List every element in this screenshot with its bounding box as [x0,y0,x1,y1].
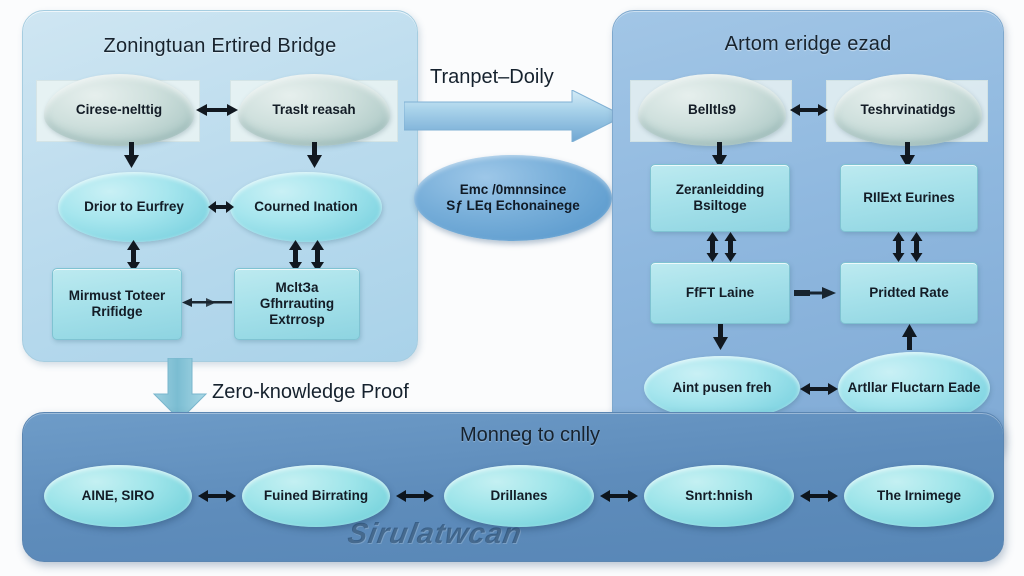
node-label-line1: Emc /0mnnsince [446,182,580,198]
arrow-left-rects [182,295,236,311]
diagram-canvas: Zoningtuan Ertired Bridge Cirese-nelttig… [0,0,1024,576]
arrow-down-left-b [306,142,324,168]
panel-left-title: Zoningtuan Ertired Bridge [23,35,417,58]
arrow-bidirectional-vertical-right-b2 [910,232,924,262]
node-label: Courned Ination [254,199,358,215]
node-left-rect-a[interactable]: Mirmust Toteer Rrifidge [52,268,182,340]
node-label: Cirese-nelttig [76,102,162,118]
node-label: AINE, SIRO [82,488,155,504]
arrow-bidirectional-vertical-right-a2 [724,232,738,262]
node-right-rect-b[interactable]: RIlExt Eurines [840,164,978,232]
node-label: Teshrvinatidgs [860,102,955,118]
node-label: Drillanes [490,488,547,504]
node-label: Traslt reasah [272,102,355,118]
arrow-transfer-left-to-right [404,90,624,142]
arrow-bottom-2-3 [396,487,434,505]
zero-knowledge-proof-label: Zero-knowledge Proof [212,381,409,404]
arrow-bidirectional-vertical-right-a1 [706,232,720,262]
node-label-line2: Sƒ LEq Echonainege [446,198,580,214]
arrow-bidirectional-left-clouds [196,100,238,120]
node-right-rect-c[interactable]: FfFT Laine [650,262,790,324]
arrow-bottom-1-2 [198,487,236,505]
arrow-bidirectional-right-ellipses [800,380,838,398]
node-right-rect-d[interactable]: Pridted Rate [840,262,978,324]
transfer-arrow-label: Tranpet–Doily [430,66,554,89]
node-label: Snrt:hnish [685,488,753,504]
node-label: Zeranleidding Bsiltoge [657,182,783,214]
node-bottom-2[interactable]: Fuined Birrating [242,465,390,527]
node-label: Mirmust Toteer Rrifidge [59,288,175,320]
arrow-bidirectional-vertical-right-b1 [892,232,906,262]
node-label: RIlExt Eurines [863,190,955,206]
node-left-ellipse-a[interactable]: Drior to Eurfrey [58,172,210,242]
node-label: Pridted Rate [869,285,949,301]
arrow-bidirectional-left-ellipses [208,197,234,217]
node-middle-ellipse[interactable]: Emc /0mnnsince Sƒ LEq Echonainege [414,155,612,241]
arrow-down-right-c [712,324,730,350]
panel-bottom-title: Monneg to cnlly [320,424,740,447]
arrow-zero-knowledge-proof [152,358,212,420]
node-label: FfFT Laine [686,285,754,301]
node-label: Fuined Birrating [264,488,368,504]
node-bottom-3[interactable]: Drillanes [444,465,594,527]
arrow-bottom-4-5 [800,487,838,505]
node-left-ellipse-b[interactable]: Courned Ination [230,172,382,242]
arrow-up-right-d [901,324,919,350]
node-left-rect-b[interactable]: McltЗa Gfhrrauting Extrrosp [234,268,360,340]
node-label: Artllar Fluctarn Eade [848,380,981,396]
node-label: Aint pusen freh [672,380,771,396]
node-bottom-1[interactable]: AINE, SIRO [44,465,192,527]
node-right-rect-a[interactable]: Zeranleidding Bsiltoge [650,164,790,232]
arrow-right-rect-c-to-d [794,285,836,301]
node-right-ellipse-a[interactable]: Aint pusen freh [644,356,800,420]
arrow-down-left-a [123,142,141,168]
node-label: Drior to Eurfrey [84,199,184,215]
node-label: Belltls9 [688,102,736,118]
arrow-bidirectional-right-clouds [790,100,828,120]
node-label: McltЗa Gfhrrauting Extrrosp [241,280,353,328]
node-bottom-5[interactable]: The Irnimege [844,465,994,527]
node-bottom-4[interactable]: Snrt:hnish [644,465,794,527]
node-label: The Irnimege [877,488,961,504]
panel-right-title: Artom eridge ezad [613,33,1003,56]
arrow-bottom-3-4 [600,487,638,505]
